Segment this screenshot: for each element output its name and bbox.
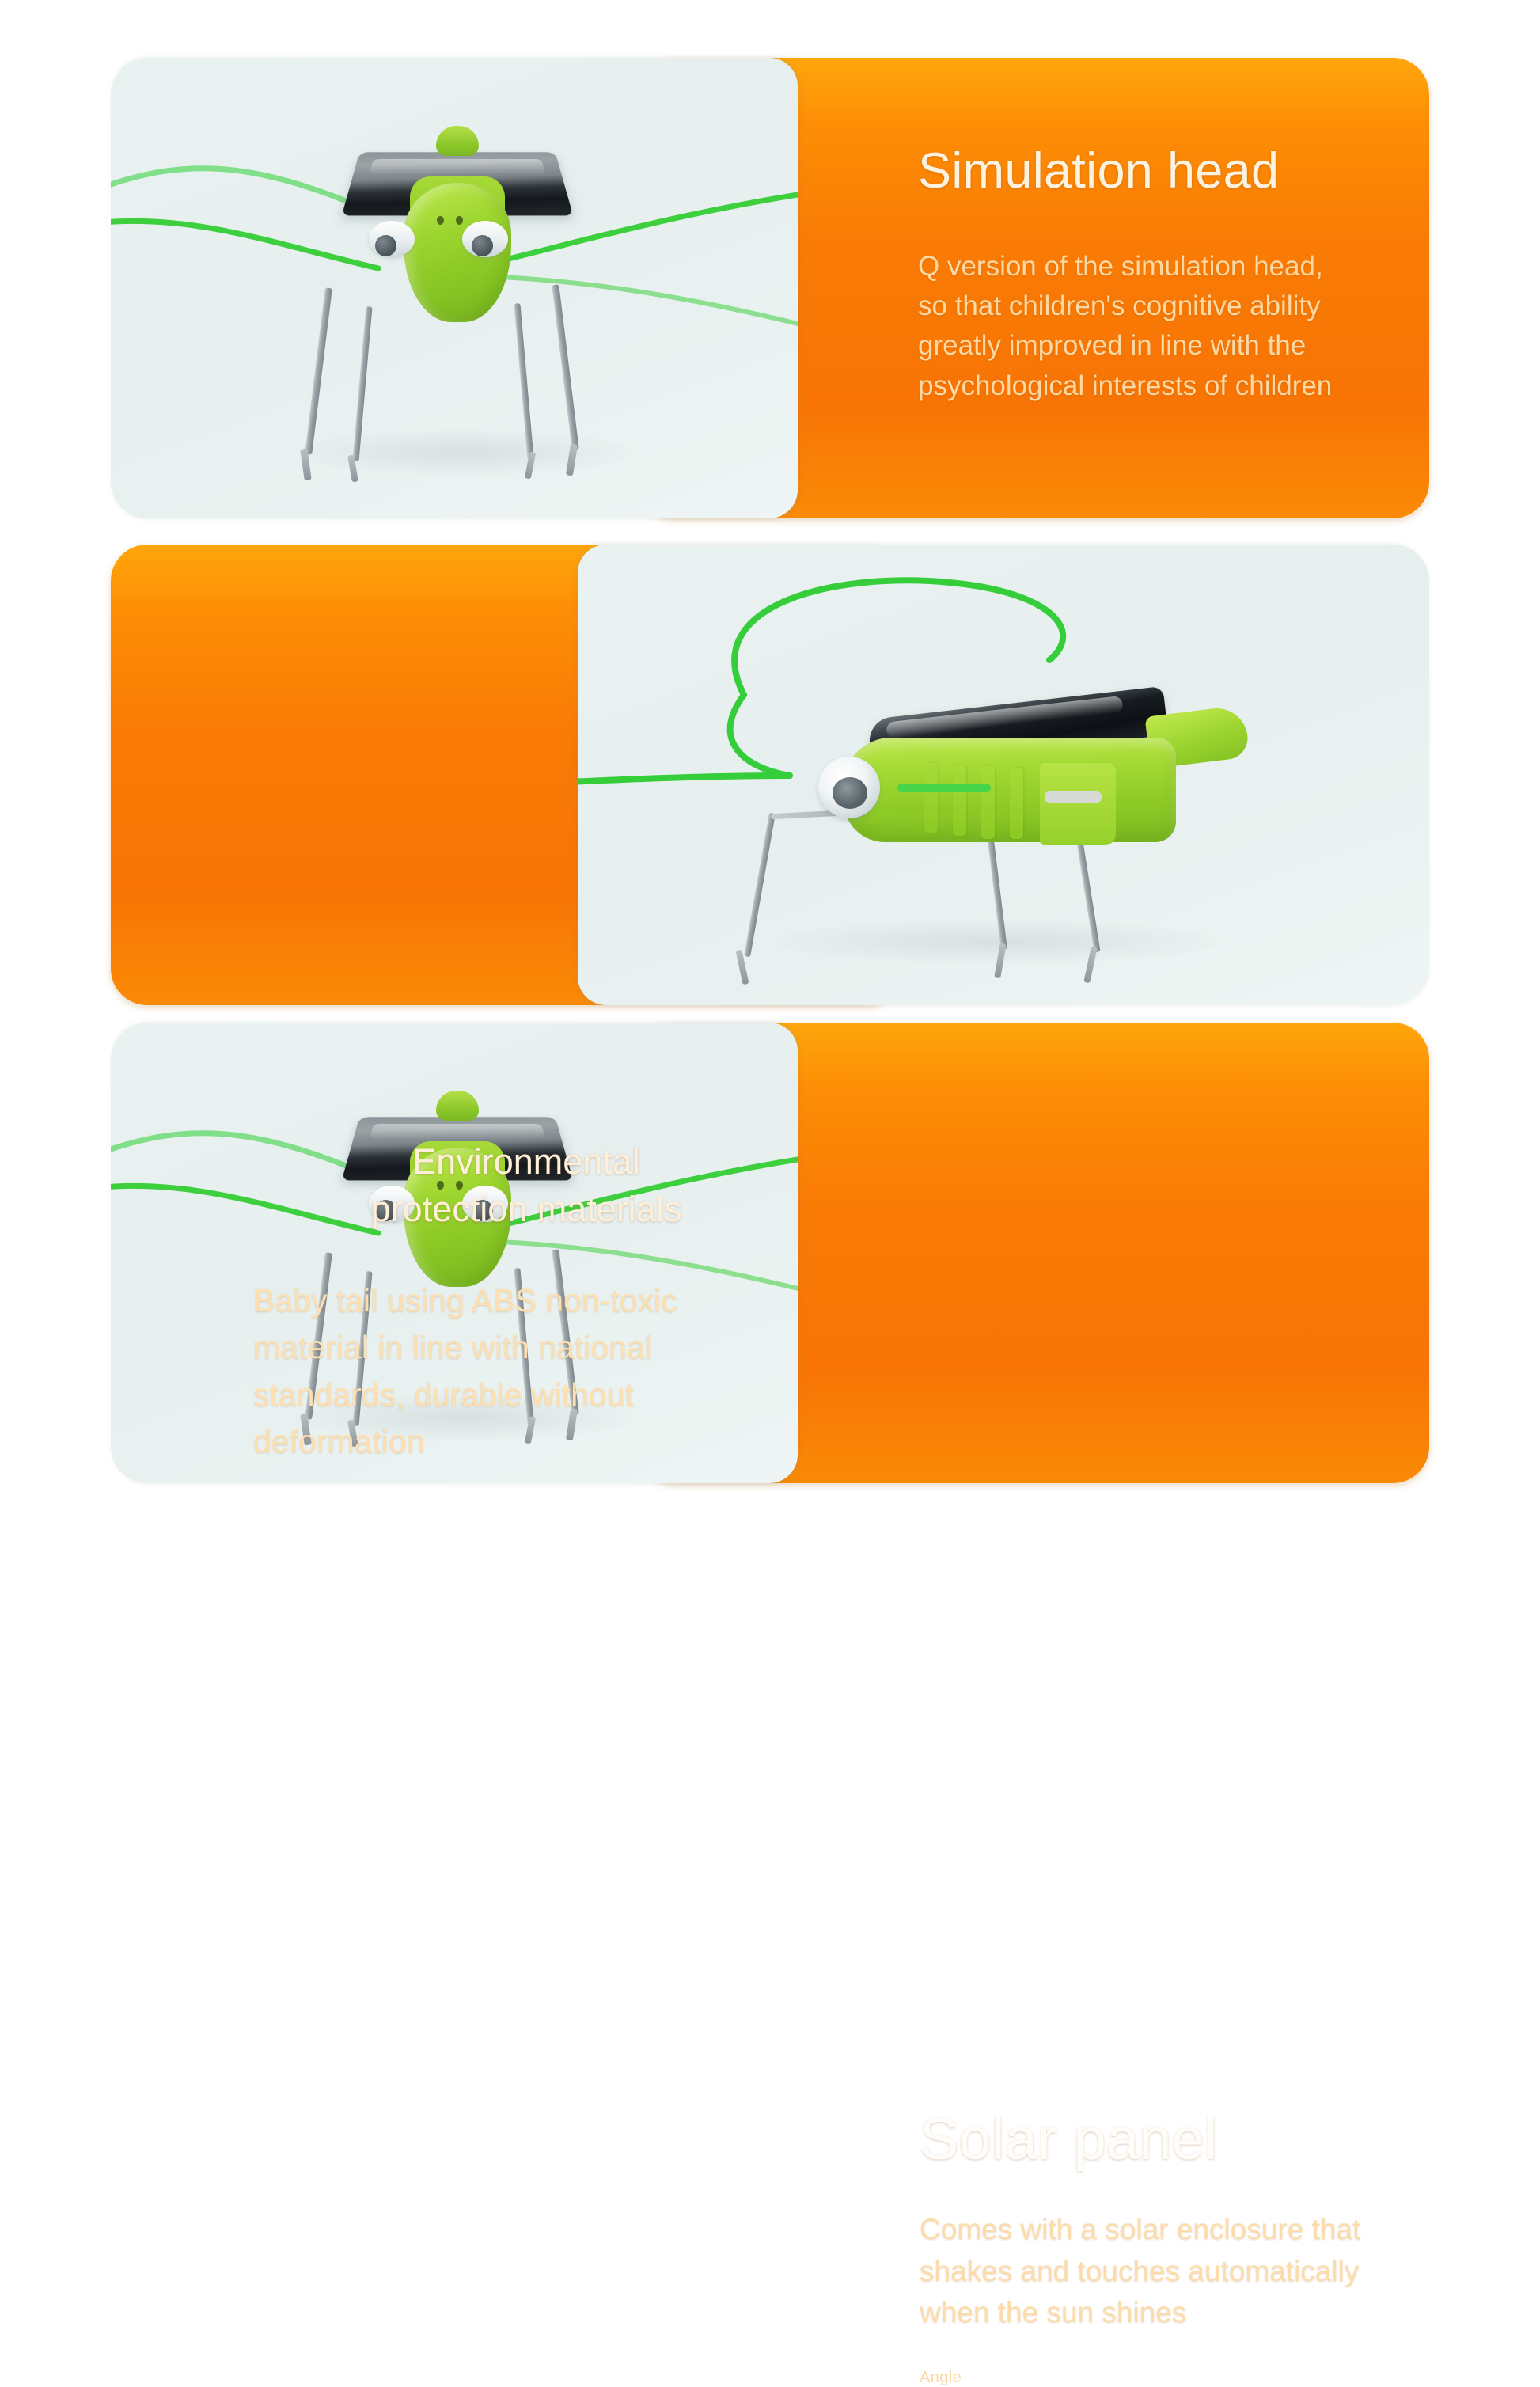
panel-3-text-block: Solar panel Comes with a solar enclosure… (920, 2107, 1474, 2387)
infographic-page: Simulation head Q version of the simulat… (0, 0, 1540, 1540)
panel-3-body-line-1: Comes with a solar enclosure that (920, 2209, 1474, 2251)
panel-1-body-line-4: psychological interests of children (918, 366, 1472, 406)
panel-1-body-line-3: greatly improved in line with the (918, 326, 1472, 366)
panel-2-body-line-3: standards, durable without (253, 1372, 799, 1418)
panel-2-heading-line-2: protection materials (253, 1186, 799, 1233)
panel-environmental-protection: Environmental protection materials Baby … (111, 545, 1429, 1005)
panel-3-body-line-3: when the sun shines (920, 2292, 1474, 2334)
panel-1-body-line-2: so that children's cognitive ability (918, 287, 1472, 326)
grasshopper-side-view-photo (578, 545, 1429, 1005)
panel-1-text-block: Simulation head Q version of the simulat… (918, 143, 1472, 406)
grasshopper-body (283, 104, 632, 484)
panel-2-heading-line-1: Environmental (253, 1138, 799, 1186)
panel-3-body-line-2: shakes and touches automatically (920, 2251, 1474, 2293)
grasshopper-front-view-photo (111, 58, 798, 518)
panel-2-body-line-2: material in line with national (253, 1324, 799, 1371)
grasshopper-body (725, 644, 1216, 985)
panel-3-heading: Solar panel (920, 2107, 1474, 2171)
panel-simulation-head: Simulation head Q version of the simulat… (111, 58, 1429, 518)
panel-2-body-line-1: Baby tail using ABS non-toxic (253, 1277, 799, 1324)
panel-3-caption: Angle (920, 2369, 1474, 2387)
panel-1-heading: Simulation head (918, 143, 1472, 199)
panel-2-body-line-4: deformation (253, 1418, 799, 1465)
panel-2-text-block: Environmental protection materials Baby … (253, 1138, 799, 1465)
panel-1-body-line-1: Q version of the simulation head, (918, 247, 1472, 287)
